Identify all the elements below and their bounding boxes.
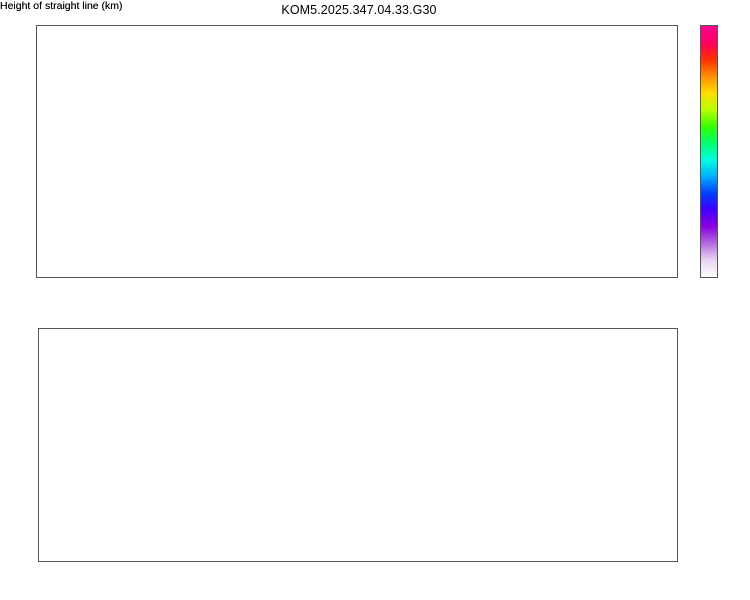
spectrogram-frame [36,25,678,278]
colorbar [700,25,718,278]
snr-frame [38,328,678,562]
snr-xaxis-title: Height of straight line (km) [0,0,123,12]
colorbar-gradient [700,25,718,278]
figure-root: KOM5.2025.347.04.33.G30 Height of straig… [0,0,750,600]
